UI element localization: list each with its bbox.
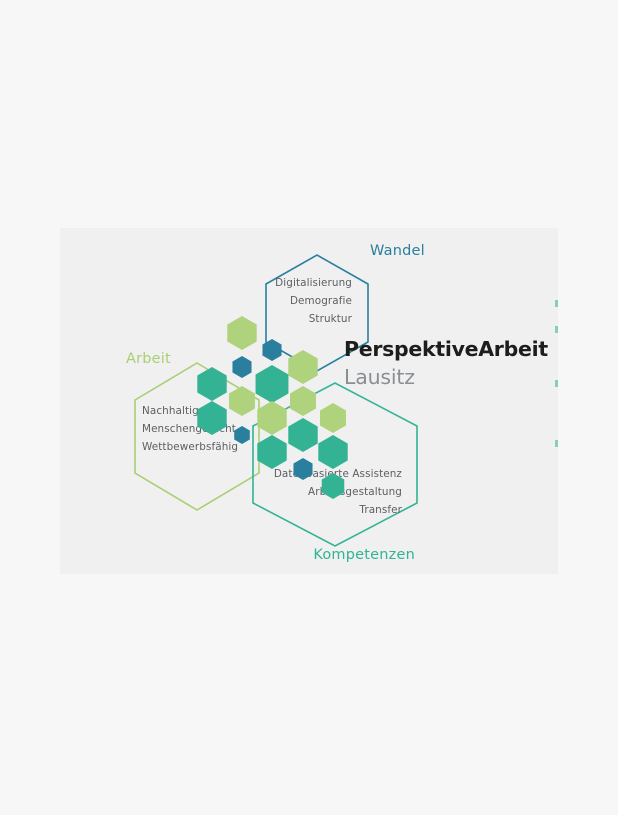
cluster-hexagon-7 bbox=[290, 386, 316, 416]
kompetenzen-label: Kompetenzen bbox=[313, 547, 415, 563]
cluster-hexagon-3 bbox=[288, 350, 317, 384]
cluster-hexagon-0 bbox=[227, 316, 256, 350]
cluster-hexagon-10 bbox=[320, 403, 346, 433]
infographic-canvas: Wandel Digitalisierung Demografie Strukt… bbox=[60, 228, 558, 574]
arbeit-label: Arbeit bbox=[126, 351, 171, 367]
cluster-hexagon-13 bbox=[257, 435, 286, 469]
cluster-hexagon-9 bbox=[257, 401, 286, 435]
wandel-label: Wandel bbox=[370, 243, 425, 259]
cluster-hexagon-2 bbox=[232, 356, 251, 378]
brand-name-secondary: Lausitz bbox=[344, 365, 415, 389]
cluster-hexagon-5 bbox=[256, 365, 289, 403]
edge-fleck bbox=[555, 380, 558, 387]
edge-fleck bbox=[555, 440, 558, 447]
cluster-hexagon-14 bbox=[318, 435, 347, 469]
arbeit-item-2: Wettbewerbsfähig bbox=[142, 441, 238, 453]
brand-name-primary: PerspektiveArbeit bbox=[344, 337, 548, 361]
graphic-panel: Wandel Digitalisierung Demografie Strukt… bbox=[60, 228, 558, 574]
brand-wordmark: PerspektiveArbeit Lausitz bbox=[344, 337, 548, 389]
edge-fleck bbox=[555, 326, 558, 333]
wandel-item-2: Struktur bbox=[309, 313, 353, 325]
wandel-item-1: Demografie bbox=[290, 295, 352, 307]
arbeit-item-0: Nachhaltig bbox=[142, 405, 199, 417]
cluster-hexagon-4 bbox=[197, 367, 226, 401]
kompetenzen-item-2: Transfer bbox=[358, 504, 402, 516]
edge-artifacts bbox=[555, 300, 558, 447]
cluster-hexagon-12 bbox=[288, 418, 317, 452]
cluster-hexagon-6 bbox=[229, 386, 255, 416]
wandel-item-0: Digitalisierung bbox=[275, 277, 352, 289]
edge-fleck bbox=[555, 300, 558, 307]
